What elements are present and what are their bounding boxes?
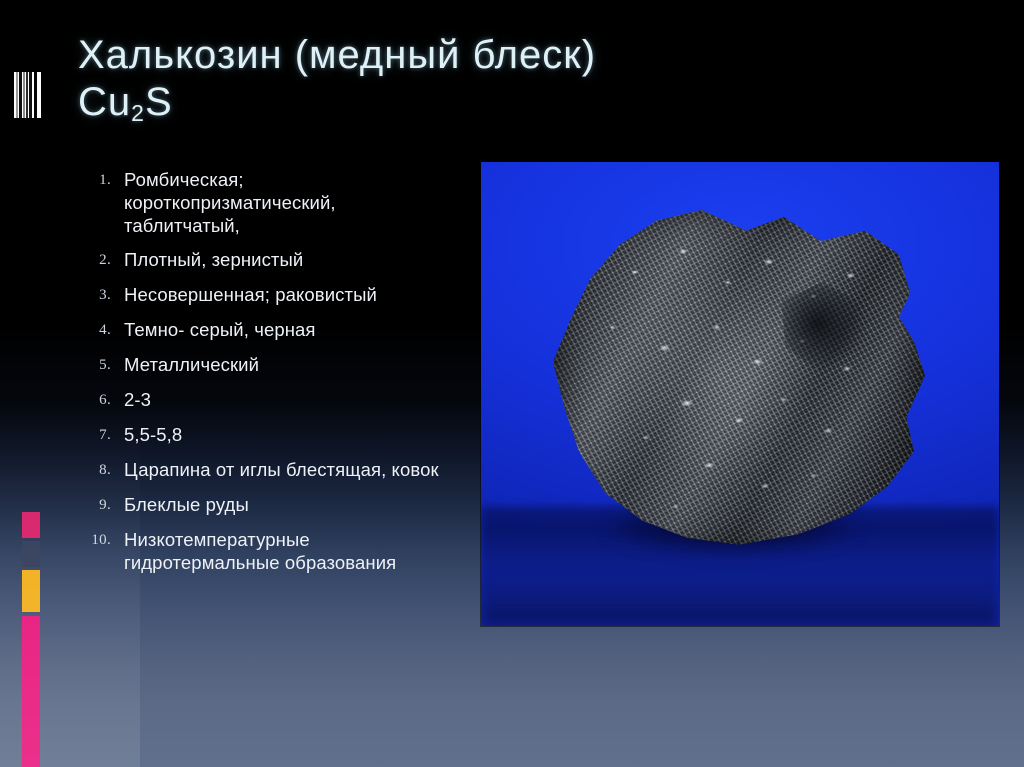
list-item-number: 5. [78,353,124,377]
photo-foreground-shadow [481,574,999,626]
page-title: Халькозин (медный блеск) [78,32,778,78]
list-item-text: Несовершенная; раковистый [124,283,448,306]
list-item: 2. Плотный, зернистый [78,248,448,272]
deco-magenta-bar [22,616,40,767]
list-item: 9. Блеклые руды [78,493,448,517]
deco-yellow-block [22,570,40,612]
formula-subscript: 2 [131,100,145,126]
list-item-text: Блеклые руды [124,493,448,516]
list-item-number: 7. [78,423,124,447]
list-item-number: 10. [78,528,124,552]
list-item: 4. Темно- серый, черная [78,318,448,342]
list-item-text: Ромбическая; короткопризматический, табл… [124,168,448,237]
list-item-text: 2-3 [124,388,448,411]
list-item: 8. Царапина от иглы блестящая, ковок [78,458,448,482]
chalcocite-specimen-photo [481,162,999,626]
list-item-text: Царапина от иглы блестящая, ковок [124,458,448,481]
list-item-number: 8. [78,458,124,482]
list-item: 10. Низкотемпературные гидротермальные о… [78,528,448,574]
list-item-number: 4. [78,318,124,342]
list-item-number: 9. [78,493,124,517]
formula-tail: S [145,80,173,124]
deco-pink-block [22,512,40,538]
list-item-text: 5,5-5,8 [124,423,448,446]
list-item-text: Плотный, зернистый [124,248,448,271]
formula-base: Cu [78,80,131,124]
chemical-formula: Cu2S [78,78,778,131]
slide-canvas: Халькозин (медный блеск) Cu2S 1. Ромбиче… [0,0,1024,767]
list-item-number: 2. [78,248,124,272]
list-item-number: 3. [78,283,124,307]
list-item: 1. Ромбическая; короткопризматический, т… [78,168,448,237]
list-item-text: Низкотемпературные гидротермальные образ… [124,528,448,574]
list-item: 7. 5,5-5,8 [78,423,448,447]
list-item-number: 6. [78,388,124,412]
list-item-number: 1. [78,168,124,192]
property-list: 1. Ромбическая; короткопризматический, т… [78,168,448,585]
list-item: 6. 2-3 [78,388,448,412]
barcode-stripes-icon [14,72,41,118]
list-item-text: Темно- серый, черная [124,318,448,341]
title-block: Халькозин (медный блеск) Cu2S [78,32,778,131]
deco-navy-block [22,541,40,567]
list-item-text: Металлический [124,353,448,376]
list-item: 5. Металлический [78,353,448,377]
list-item: 3. Несовершенная; раковистый [78,283,448,307]
